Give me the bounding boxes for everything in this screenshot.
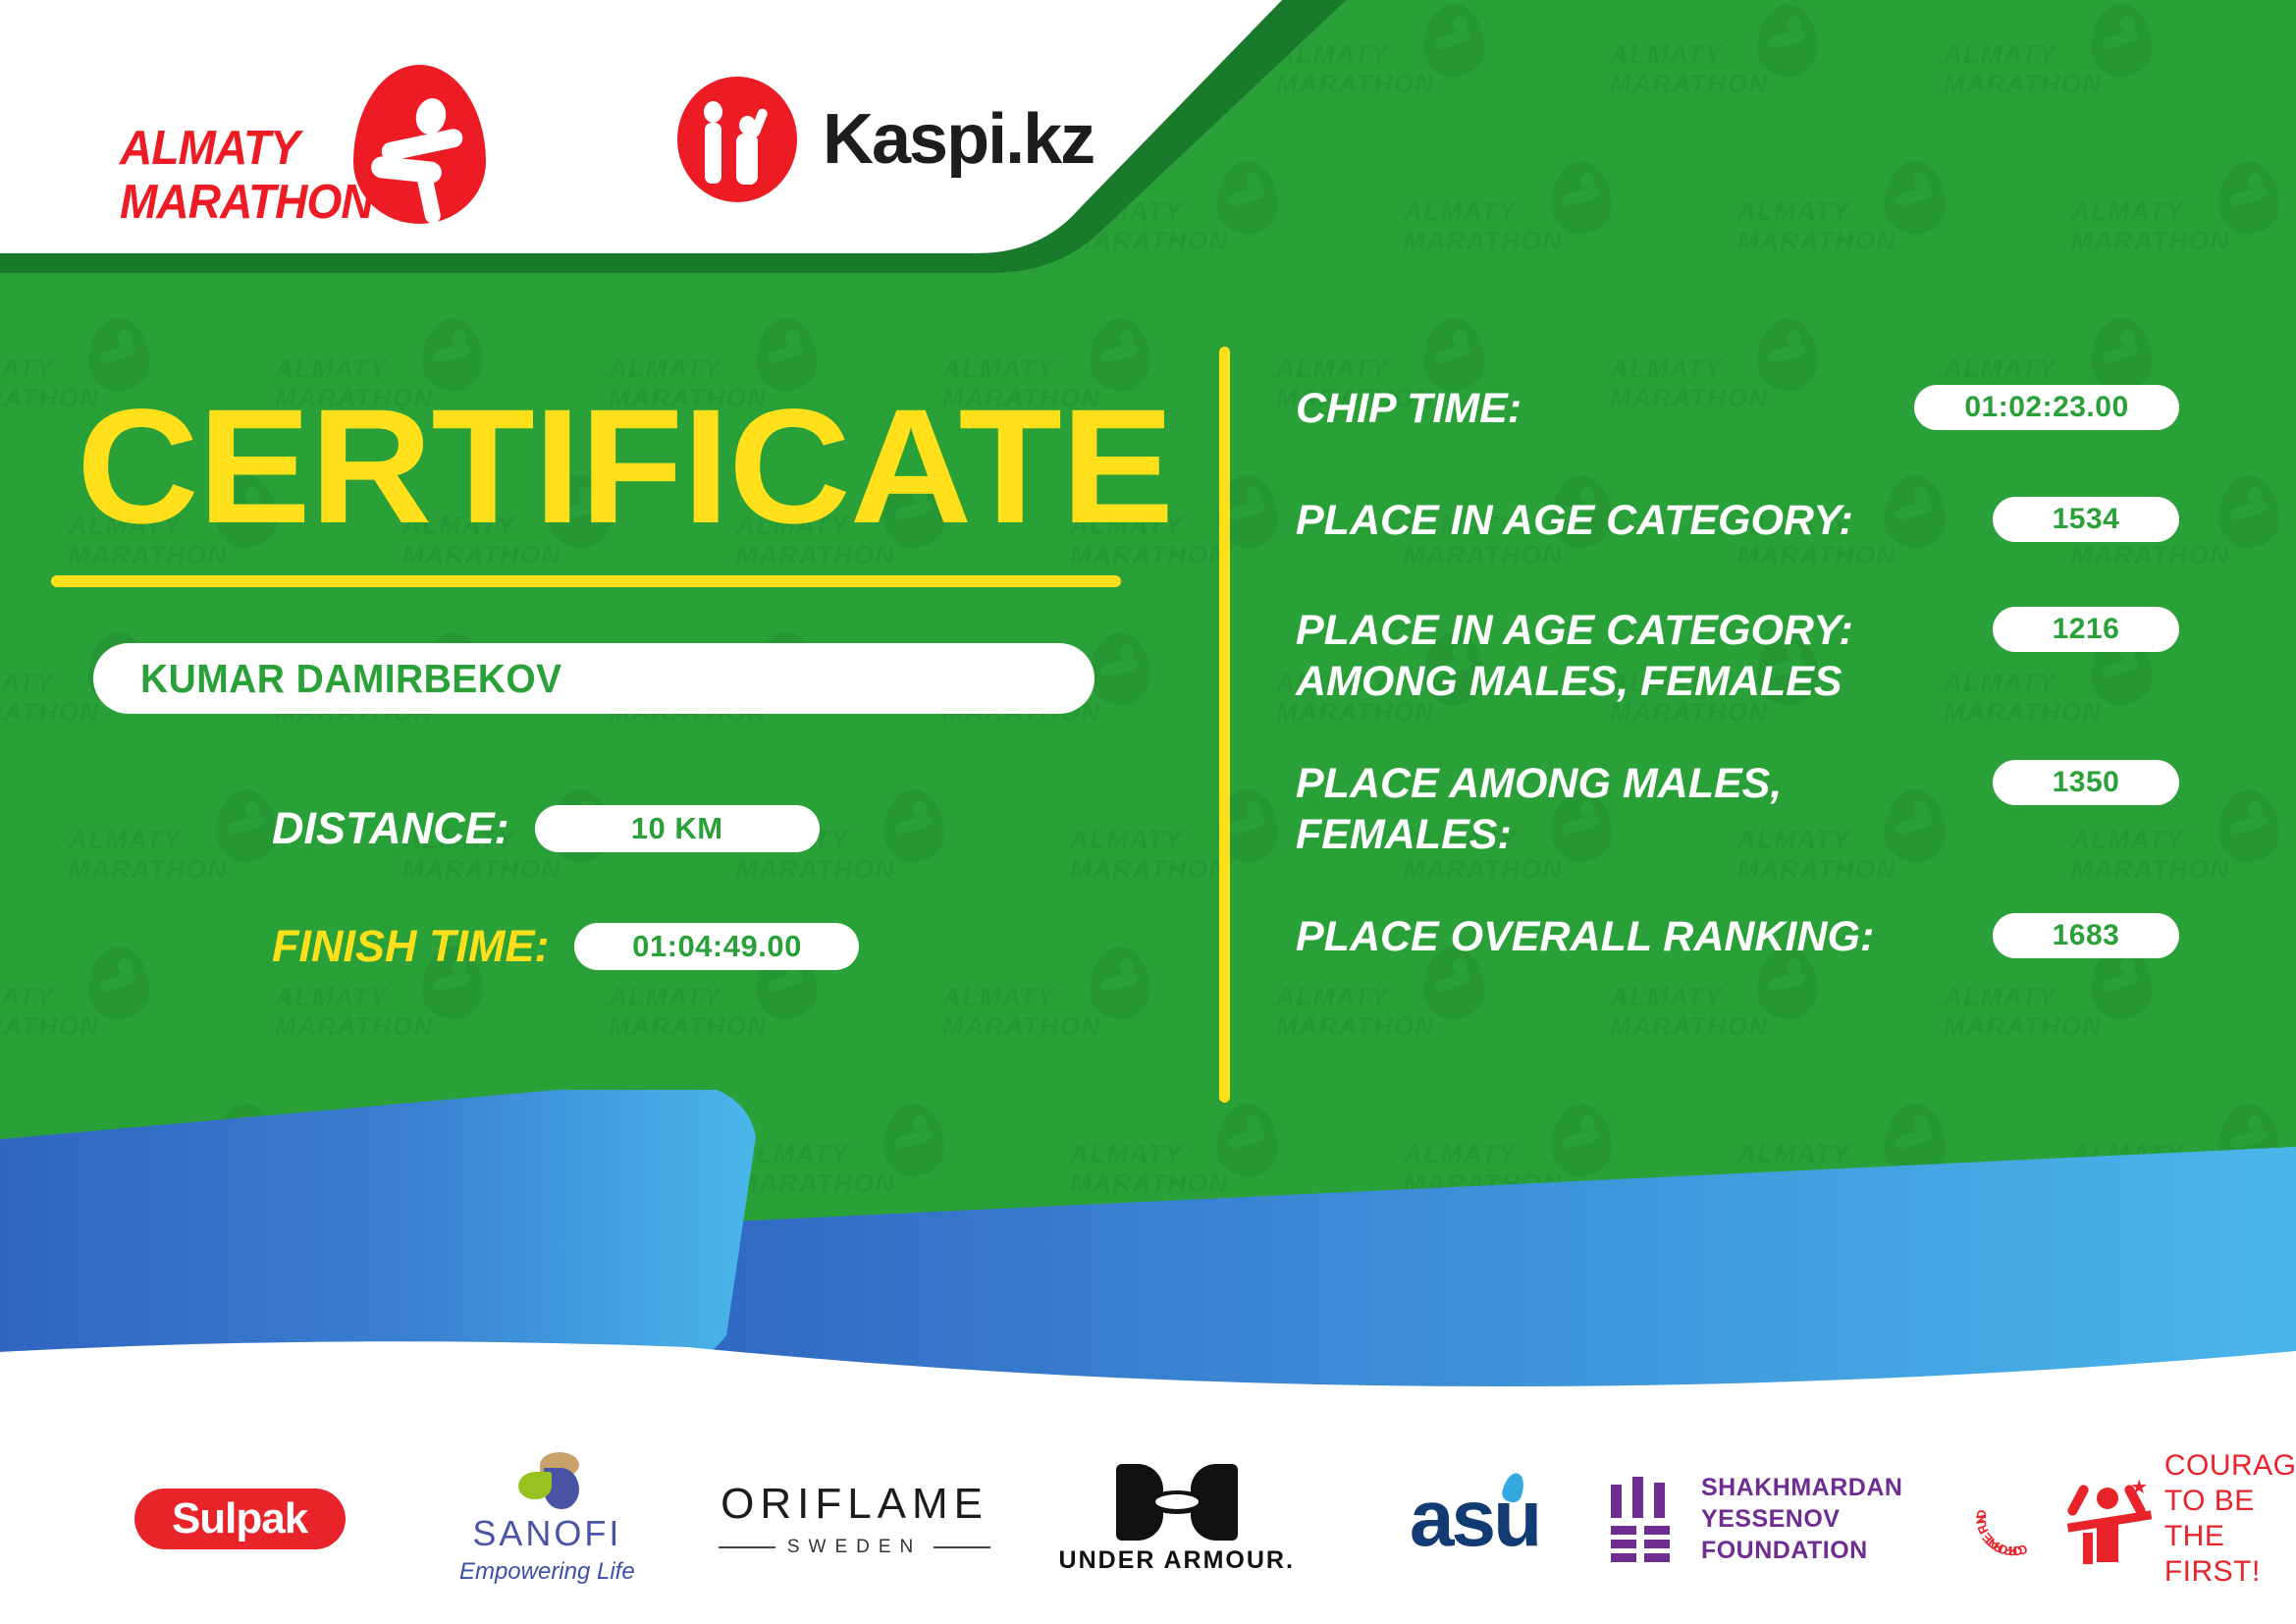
distance-row: DISTANCE: 10 KM bbox=[272, 803, 820, 854]
two-figures-circle-icon bbox=[677, 77, 797, 202]
sponsor-asu: asu bbox=[1338, 1455, 1611, 1583]
oriflame-subline: SWEDEN bbox=[719, 1537, 990, 1558]
sponsor-courage-to-be-the-first: CORPORATE FUND ★ COURAGE TO BE THE FIRST… bbox=[2002, 1455, 2296, 1583]
finish-time-value: 01:04:49.00 bbox=[574, 923, 859, 970]
place-in-age-category-among-line2: AMONG MALES, FEMALES bbox=[1296, 656, 1853, 707]
place-among-males-females-line2: FEMALES: bbox=[1296, 809, 1782, 860]
event-ribbon-banner: APRIL 21 st RUN FOR SENSATIONS bbox=[0, 1090, 2296, 1424]
almaty-marathon-wordmark: ALMATY MARATHON bbox=[120, 122, 373, 230]
place-overall-ranking-label: PLACE OVERALL RANKING: bbox=[1296, 911, 1874, 962]
courage-logo: CORPORATE FUND ★ COURAGE TO BE THE FIRST… bbox=[1974, 1448, 2296, 1590]
oriflame-rule-right bbox=[934, 1546, 990, 1548]
page-title: CERTIFICATE bbox=[77, 386, 1173, 549]
distance-value: 10 KM bbox=[535, 805, 820, 852]
yessenov-wordmark: SHAKHMARDAN YESSENOV FOUNDATION bbox=[1701, 1472, 2002, 1566]
place-in-age-category-among-value: 1216 bbox=[1993, 607, 2179, 652]
finish-time-label: FINISH TIME: bbox=[272, 921, 549, 972]
almaty-logo-line1: ALMATY bbox=[120, 122, 373, 176]
sulpak-logo: Sulpak bbox=[134, 1489, 346, 1549]
sponsor-bar: Sulpak SANOFI Empowering Life ORIFLAME S… bbox=[0, 1414, 2296, 1624]
under-armour-logo: UNDER ARMOUR. bbox=[1059, 1464, 1295, 1575]
chip-time-row: CHIP TIME: 01:02:23.00 bbox=[1296, 383, 2179, 434]
place-in-age-category-value: 1534 bbox=[1993, 497, 2179, 542]
oriflame-country: SWEDEN bbox=[787, 1537, 922, 1558]
place-in-age-category-label: PLACE IN AGE CATEGORY: bbox=[1296, 495, 1853, 546]
chip-time-label: CHIP TIME: bbox=[1296, 383, 1522, 434]
sanofi-tagline: Empowering Life bbox=[459, 1558, 635, 1586]
watermark-tile: ALMATYMARATHON bbox=[609, 982, 815, 1092]
kaspi-wordmark: Kaspi.kz bbox=[823, 99, 1094, 180]
watermark-tile: ALMATYMARATHON bbox=[1610, 982, 1816, 1092]
courage-line2: TO BE bbox=[2164, 1484, 2296, 1519]
finish-time-row: FINISH TIME: 01:04:49.00 bbox=[272, 921, 859, 972]
distance-label: DISTANCE: bbox=[272, 803, 509, 854]
watermark-tile: ALMATYMARATHON bbox=[1070, 825, 1276, 935]
place-overall-ranking-row: PLACE OVERALL RANKING: 1683 bbox=[1296, 911, 2179, 962]
watermark-tile: ALMATYMARATHON bbox=[1404, 196, 1610, 306]
athlete-name-value: KUMAR DAMIRBEKOV bbox=[140, 656, 562, 702]
chip-time-value: 01:02:23.00 bbox=[1914, 385, 2179, 430]
place-among-males-females-value: 1350 bbox=[1993, 760, 2179, 805]
oriflame-logo: ORIFLAME SWEDEN bbox=[719, 1480, 990, 1558]
watermark-tile: ALMATYMARATHON bbox=[1610, 39, 1816, 149]
watermark-tile: ALMATYMARATHON bbox=[942, 982, 1148, 1092]
results-list: CHIP TIME: 01:02:23.00 PLACE IN AGE CATE… bbox=[1296, 383, 2179, 996]
yessenov-logo: SHAKHMARDAN YESSENOV FOUNDATION bbox=[1611, 1472, 2002, 1566]
yessenov-line1: SHAKHMARDAN YESSENOV bbox=[1701, 1472, 2002, 1535]
oriflame-wordmark: ORIFLAME bbox=[719, 1480, 990, 1529]
watermark-tile: ALMATYMARATHON bbox=[1737, 196, 1944, 306]
certificate-page: ALMATYMARATHONALMATYMARATHONALMATYMARATH… bbox=[0, 0, 2296, 1624]
corporate-fund-arc-glyphs: CORPORATE FUND bbox=[1974, 1472, 2055, 1566]
place-in-age-category-among-label: PLACE IN AGE CATEGORY: AMONG MALES, FEMA… bbox=[1296, 605, 1853, 707]
header-panel: ALMATY MARATHON Kaspi.kz bbox=[0, 0, 1423, 295]
sponsor-oriflame: ORIFLAME SWEDEN bbox=[693, 1455, 1015, 1583]
sanofi-logo: SANOFI Empowering Life bbox=[459, 1452, 635, 1586]
place-in-age-category-among-row: PLACE IN AGE CATEGORY: AMONG MALES, FEMA… bbox=[1296, 605, 2179, 707]
asu-logo: asu bbox=[1410, 1479, 1539, 1559]
place-in-age-category-row: PLACE IN AGE CATEGORY: 1534 bbox=[1296, 495, 2179, 546]
sanofi-mark-icon bbox=[512, 1452, 581, 1509]
watermark-tile: ALMATYMARATHON bbox=[1944, 982, 2150, 1092]
title-underline-rule bbox=[51, 575, 1121, 587]
sponsor-sulpak: Sulpak bbox=[79, 1455, 400, 1583]
sanofi-wordmark: SANOFI bbox=[459, 1513, 635, 1554]
column-divider bbox=[1219, 347, 1230, 1103]
watermark-tile: ALMATYMARATHON bbox=[275, 982, 481, 1092]
courage-line3: THE FIRST! bbox=[2164, 1519, 2296, 1590]
almaty-logo-line2: MARATHON bbox=[120, 176, 373, 230]
kaspi-logo: Kaspi.kz bbox=[677, 77, 1094, 202]
yessenov-line2: FOUNDATION bbox=[1701, 1535, 2002, 1566]
place-among-males-females-row: PLACE AMONG MALES, FEMALES: 1350 bbox=[1296, 758, 2179, 860]
sponsor-yessenov-foundation: SHAKHMARDAN YESSENOV FOUNDATION bbox=[1611, 1455, 2002, 1583]
sponsor-sanofi: SANOFI Empowering Life bbox=[400, 1455, 693, 1583]
place-among-males-females-line1: PLACE AMONG MALES, bbox=[1296, 758, 1782, 809]
courage-wordmark: COURAGE TO BE THE FIRST! bbox=[2164, 1448, 2296, 1590]
corporate-fund-arc-text: CORPORATE FUND bbox=[1974, 1472, 2052, 1566]
watermark-tile: ALMATYMARATHON bbox=[1276, 982, 1482, 1092]
athlete-name-field: KUMAR DAMIRBEKOV bbox=[93, 643, 1095, 714]
almaty-marathon-logo: ALMATY MARATHON bbox=[120, 61, 444, 218]
yessenov-bars-icon bbox=[1611, 1477, 1676, 1561]
under-armour-wordmark: UNDER ARMOUR. bbox=[1059, 1546, 1295, 1575]
place-among-males-females-label: PLACE AMONG MALES, FEMALES: bbox=[1296, 758, 1782, 860]
oriflame-rule-left bbox=[719, 1546, 775, 1548]
under-armour-mark-icon bbox=[1116, 1464, 1238, 1541]
watermark-tile: ALMATYMARATHON bbox=[69, 825, 275, 935]
place-in-age-category-among-line1: PLACE IN AGE CATEGORY: bbox=[1296, 605, 1853, 656]
watermark-tile: ALMATYMARATHON bbox=[0, 982, 147, 1092]
place-overall-ranking-value: 1683 bbox=[1993, 913, 2179, 958]
sponsor-under-armour: UNDER ARMOUR. bbox=[1016, 1455, 1338, 1583]
celebrating-figure-icon: ★ bbox=[2067, 1474, 2149, 1564]
courage-line1: COURAGE bbox=[2164, 1448, 2296, 1484]
watermark-tile: ALMATYMARATHON bbox=[1944, 39, 2150, 149]
watermark-tile: ALMATYMARATHON bbox=[2071, 196, 2277, 306]
